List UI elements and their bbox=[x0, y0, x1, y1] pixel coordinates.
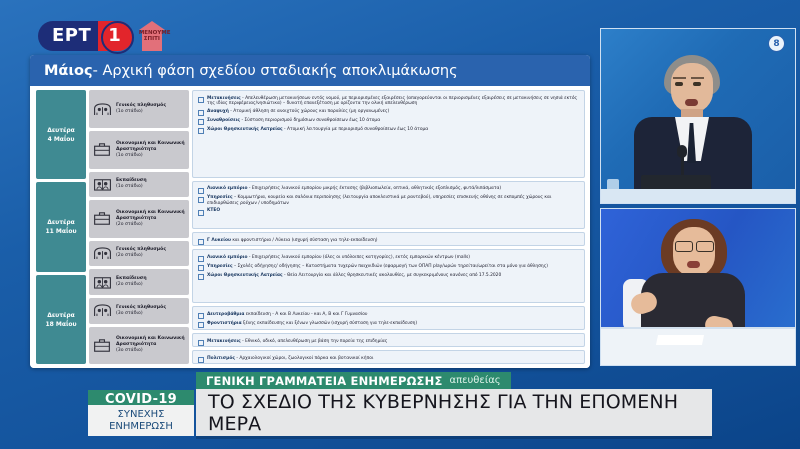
detail-line: Λιανικό εμπόριο - Επιχειρήσεις λιανικού … bbox=[198, 255, 580, 263]
checkbox-icon bbox=[198, 340, 204, 346]
covid-sub-line1: ΣΥΝΕΧΗΣ bbox=[118, 409, 165, 421]
category-stage: (3ο στάδιο) bbox=[116, 311, 166, 317]
detail-panel: Μετακινήσεις - Εθνικό, οδικό, απελευθέρω… bbox=[192, 333, 585, 347]
checkbox-icon bbox=[198, 97, 204, 103]
detail-line: Μετακινήσεις - Απελευθέρωση μετακινήσεων… bbox=[198, 96, 580, 108]
detail-line: Λιανικό εμπόριο - Επιχειρήσεις λιανικού … bbox=[198, 186, 580, 194]
video-panel-speaker: 8 bbox=[600, 28, 796, 204]
detail-line: Συναθροίσεις - Σύσταση περιορισμού δημόσ… bbox=[198, 118, 580, 126]
date-day: Δευτέρα bbox=[47, 311, 75, 320]
checkbox-icon bbox=[198, 119, 204, 125]
checkbox-icon bbox=[198, 128, 204, 134]
detail-line: Δευτεροβάθμια εκπαίδευση - Α και Β Λυκεί… bbox=[198, 312, 580, 320]
category-row: Οικονομική και Κοινωνική Δραστηριότητα (… bbox=[89, 200, 189, 237]
category-label: Οικονομική και Κοινωνική Δραστηριότητα (… bbox=[116, 210, 186, 229]
category-label: Εκπαίδευση (1ο στάδιο) bbox=[116, 178, 147, 190]
category-label: Γενικός πληθυσμός (1ο στάδιο) bbox=[116, 103, 166, 115]
headline-text: ΤΟ ΣΧΕΔΙΟ ΤΗΣ ΚΥΒΕΡΝΗΣΗΣ ΓΙΑ ΤΗΝ ΕΠΟΜΕΝΗ… bbox=[208, 391, 712, 435]
students-icon bbox=[92, 176, 112, 193]
category-label: Οικονομική και Κοινωνική Δραστηριότητα (… bbox=[116, 336, 186, 355]
detail-line: Γ Λυκείου και φροντιστήρια / Λύκεια (ισχ… bbox=[198, 238, 580, 246]
checkbox-icon bbox=[198, 322, 204, 328]
category-stage: (1ο στάδιο) bbox=[116, 184, 147, 190]
checkbox-icon bbox=[198, 357, 204, 363]
checkbox-icon bbox=[198, 265, 204, 271]
category-stage: (2ο στάδιο) bbox=[116, 222, 186, 228]
covid-sub-line2: ΕΝΗΜΕΡΩΣΗ bbox=[109, 421, 173, 433]
briefcase-icon bbox=[92, 337, 112, 354]
detail-line: Πολιτισμός - Αρχαιολογικοί χώροι, ζωολογ… bbox=[198, 356, 580, 364]
slide-title-text: - Αρχική φάση σχεδίου σταδιακής αποκλιμά… bbox=[93, 63, 458, 79]
checkbox-icon bbox=[198, 239, 204, 245]
date-day: Δευτέρα bbox=[47, 218, 75, 227]
channel-logo: ΕΡΤ 1 ΜΕΝΟΥΜΕ ΣΠΙΤΙ bbox=[38, 20, 165, 51]
slide-title-bar: Μάιος - Αρχική φάση σχεδίου σταδιακής απ… bbox=[30, 55, 590, 86]
category-row: Γενικός πληθυσμός (3ο στάδιο) bbox=[89, 298, 189, 324]
stay-home-badge-icon: ΜΕΝΟΥΜΕ ΣΠΙΤΙ bbox=[139, 21, 165, 51]
category-stage: (3ο στάδιο) bbox=[116, 348, 186, 354]
date-block: Δευτέρα 18 Μαΐου bbox=[36, 275, 86, 364]
live-label: απευθείας bbox=[450, 375, 501, 386]
presentation-slide: Μάιος - Αρχική φάση σχεδίου σταδιακής απ… bbox=[30, 55, 590, 368]
category-row: Εκπαίδευση (1ο στάδιο) bbox=[89, 172, 189, 198]
checkbox-icon bbox=[198, 256, 204, 262]
category-row: Οικονομική και Κοινωνική Δραστηριότητα (… bbox=[89, 131, 189, 168]
category-stage: (2ο στάδιο) bbox=[116, 282, 147, 288]
people-gathering-icon bbox=[92, 101, 112, 118]
headline-shadow bbox=[196, 436, 712, 439]
detail-line: Χώροι Θρησκευτικής Λατρείας - Θεία Λειτο… bbox=[198, 273, 580, 281]
ert-pill: ΕΡΤ 1 bbox=[38, 20, 133, 51]
category-row: Οικονομική και Κοινωνική Δραστηριότητα (… bbox=[89, 327, 189, 364]
category-label: Εκπαίδευση (2ο στάδιο) bbox=[116, 276, 147, 288]
detail-line: Μετακινήσεις - Εθνικό, οδικό, απελευθέρω… bbox=[198, 339, 580, 347]
detail-line: Υπηρεσίες – Κομμωτήρια, κουρεία και σαλό… bbox=[198, 195, 580, 207]
briefcase-icon bbox=[92, 141, 112, 158]
slide-content: Δευτέρα 4 Μαΐου Δευτέρα 11 Μαΐου Δευτέρα… bbox=[30, 86, 590, 368]
date-day: Δευτέρα bbox=[47, 126, 75, 135]
detail-line: ΚΤΕΟ bbox=[198, 208, 580, 216]
category-label: Γενικός πληθυσμός (3ο στάδιο) bbox=[116, 305, 166, 317]
broadcast-screen: ΕΡΤ 1 ΜΕΝΟΥΜΕ ΣΠΙΤΙ Μάιος - Αρχική φάση … bbox=[0, 0, 800, 449]
stay-home-line1: ΜΕΝΟΥΜΕ bbox=[139, 30, 165, 36]
checkbox-icon bbox=[198, 210, 204, 216]
checkbox-icon bbox=[198, 197, 204, 203]
detail-line: Φροντιστήρια ξένης εκπαίδευσης και ξένων… bbox=[198, 321, 580, 329]
people-gathering-icon bbox=[92, 302, 112, 319]
category-row: Γενικός πληθυσμός (2ο στάδιο) bbox=[89, 241, 189, 267]
slide-title-month: Μάιος bbox=[44, 63, 93, 79]
channel-corner-badge: 8 bbox=[768, 35, 785, 52]
category-stage: (1ο στάδιο) bbox=[116, 109, 166, 115]
channel-name: ΕΡΤ bbox=[38, 21, 104, 51]
stay-home-line2: ΣΠΙΤΙ bbox=[139, 36, 165, 42]
students-icon bbox=[92, 274, 112, 291]
category-label: Οικονομική και Κοινωνική Δραστηριότητα (… bbox=[116, 141, 186, 160]
date-block: Δευτέρα 4 Μαΐου bbox=[36, 90, 86, 179]
video-panel-sign-interpreter bbox=[600, 208, 796, 366]
category-row: Εκπαίδευση (2ο στάδιο) bbox=[89, 269, 189, 295]
category-stage: (2ο στάδιο) bbox=[116, 253, 166, 259]
detail-panel: Λιανικό εμπόριο - Επιχειρήσεις λιανικού … bbox=[192, 249, 585, 303]
detail-panel: Λιανικό εμπόριο - Επιχειρήσεις λιανικού … bbox=[192, 181, 585, 230]
category-stage: (1ο στάδιο) bbox=[116, 153, 186, 159]
agency-banner: ΓΕΝΙΚΗ ΓΡΑΜΜΑΤΕΙΑ ΕΝΗΜΕΡΩΣΗΣ απευθείας bbox=[196, 372, 511, 389]
category-row: Γενικός πληθυσμός (1ο στάδιο) bbox=[89, 90, 189, 128]
date-block: Δευτέρα 11 Μαΐου bbox=[36, 182, 86, 272]
date-rail: Δευτέρα 4 Μαΐου Δευτέρα 11 Μαΐου Δευτέρα… bbox=[36, 90, 86, 364]
agency-name: ΓΕΝΙΚΗ ΓΡΑΜΜΑΤΕΙΑ ΕΝΗΜΕΡΩΣΗΣ bbox=[206, 374, 443, 388]
detail-panel: Γ Λυκείου και φροντιστήρια / Λύκεια (ισχ… bbox=[192, 232, 585, 246]
date-value: 4 Μαΐου bbox=[48, 135, 75, 144]
detail-column: Μετακινήσεις - Απελευθέρωση μετακινήσεων… bbox=[192, 90, 585, 364]
date-value: 18 Μαΐου bbox=[45, 320, 76, 329]
people-gathering-icon bbox=[92, 245, 112, 262]
checkbox-icon bbox=[198, 313, 204, 319]
date-value: 11 Μαΐου bbox=[45, 227, 76, 236]
category-column: Γενικός πληθυσμός (1ο στάδιο) Οικονομική… bbox=[89, 90, 189, 364]
category-label: Γενικός πληθυσμός (2ο στάδιο) bbox=[116, 247, 166, 259]
checkbox-icon bbox=[198, 274, 204, 280]
headline-banner: ΤΟ ΣΧΕΔΙΟ ΤΗΣ ΚΥΒΕΡΝΗΣΗΣ ΓΙΑ ΤΗΝ ΕΠΟΜΕΝΗ… bbox=[196, 389, 712, 436]
covid-sub-badge: ΣΥΝΕΧΗΣ ΕΝΗΜΕΡΩΣΗ bbox=[88, 405, 194, 436]
detail-panel: Δευτεροβάθμια εκπαίδευση - Α και Β Λυκεί… bbox=[192, 306, 585, 330]
checkbox-icon bbox=[198, 188, 204, 194]
checkbox-icon bbox=[198, 110, 204, 116]
detail-line: Υπηρεσίες – Σχολές οδήγησης/ οδήγησης – … bbox=[198, 264, 580, 272]
logo-ring bbox=[101, 21, 134, 54]
detail-panel: Μετακινήσεις - Απελευθέρωση μετακινήσεων… bbox=[192, 90, 585, 178]
detail-line: Αναψυχή - Ατομική άθληση σε ανοιχτούς χώ… bbox=[198, 109, 580, 117]
detail-panel: Πολιτισμός - Αρχαιολογικοί χώροι, ζωολογ… bbox=[192, 350, 585, 364]
briefcase-icon bbox=[92, 210, 112, 227]
detail-line: Χώροι Θρησκευτικής Λατρείας - Ατομική λε… bbox=[198, 127, 580, 135]
